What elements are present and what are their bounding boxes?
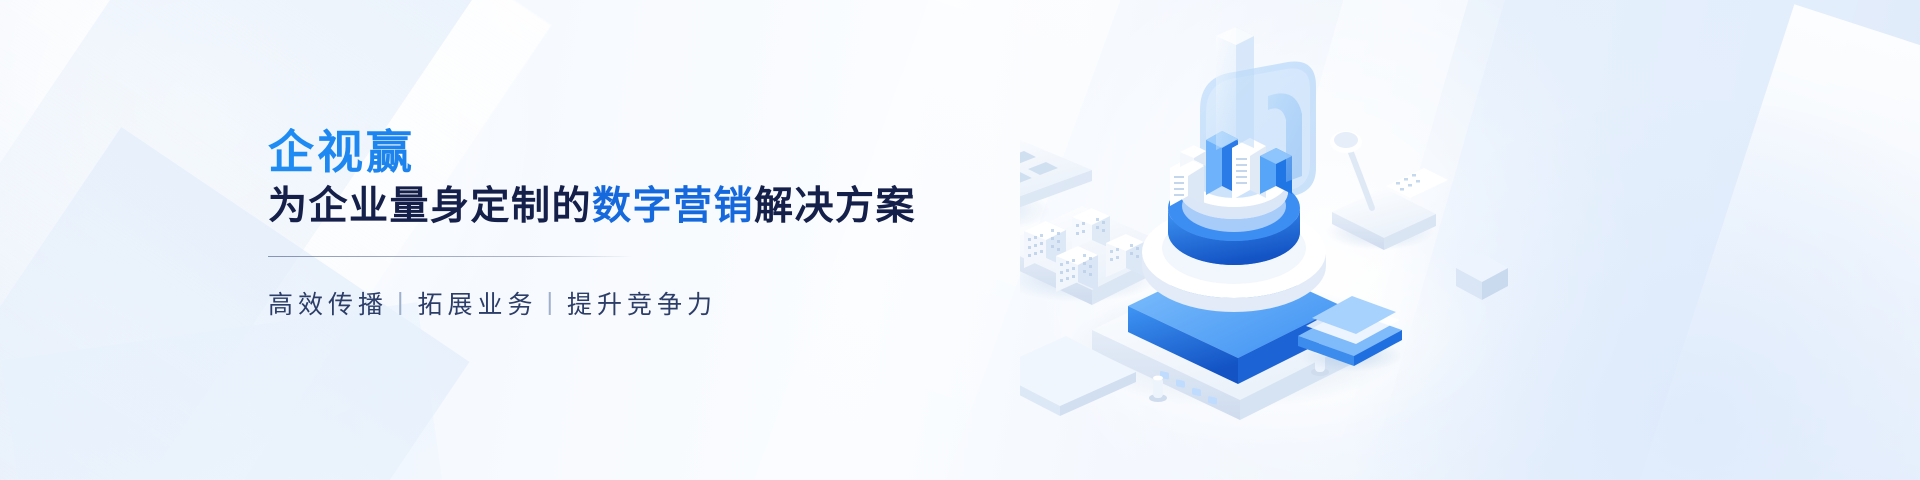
- glass-shaft: [1216, 27, 1254, 150]
- hero-illustration: [1020, 0, 1580, 480]
- tagline-item-2: 提升竞争力: [567, 285, 717, 321]
- diagonal-shape-8: [1, 302, 459, 480]
- tagline-separator-1: |: [547, 288, 554, 317]
- headline-divider: [268, 256, 634, 257]
- headline-part-2: 解决方案: [754, 185, 916, 228]
- tagline-separator-0: |: [397, 288, 404, 317]
- banner-copy: 企视赢 为企业量身定制的数字营销解决方案 高效传播 | 拓展业务 | 提升竞争力: [268, 128, 908, 321]
- microphone-prop: [1326, 131, 1448, 250]
- headline: 为企业量身定制的数字营销解决方案: [268, 185, 908, 230]
- diagonal-shape-7: [1621, 4, 1920, 480]
- tagline: 高效传播 | 拓展业务 | 提升竞争力: [268, 285, 908, 321]
- brand-title: 企视赢: [268, 128, 908, 178]
- headline-highlight: 数字营销: [592, 185, 754, 228]
- tagline-item-0: 高效传播: [268, 285, 388, 321]
- hero-banner: 企视赢 为企业量身定制的数字营销解决方案 高效传播 | 拓展业务 | 提升竞争力: [0, 0, 1920, 480]
- headline-part-1: 为企业量身定制的: [268, 185, 592, 228]
- tagline-item-1: 拓展业务: [418, 285, 538, 321]
